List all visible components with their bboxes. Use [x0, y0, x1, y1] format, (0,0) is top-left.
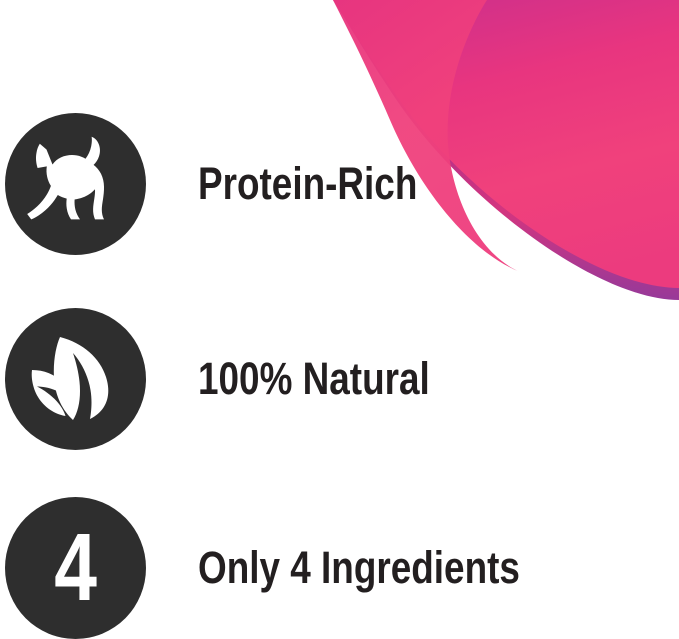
product-feature-panel: Protein-Rich 100% Natural 4 Only 4 Ingre… [0, 0, 679, 639]
feature-label-ingredients: Only 4 Ingredients [198, 544, 592, 591]
feature-row: 100% Natural [0, 307, 679, 450]
leaf-icon [26, 331, 126, 427]
badge-circle-protein [5, 113, 146, 255]
badge-circle-natural [5, 308, 146, 450]
feature-row: 4 Only 4 Ingredients [0, 497, 679, 639]
badge-circle-ingredients: 4 [5, 497, 146, 639]
feature-label-protein: Protein-Rich [198, 160, 592, 207]
number-four-icon: 4 [55, 520, 97, 616]
feature-label-natural: 100% Natural [198, 355, 592, 402]
feature-row: Protein-Rich [0, 112, 679, 255]
cat-icon [24, 136, 128, 232]
